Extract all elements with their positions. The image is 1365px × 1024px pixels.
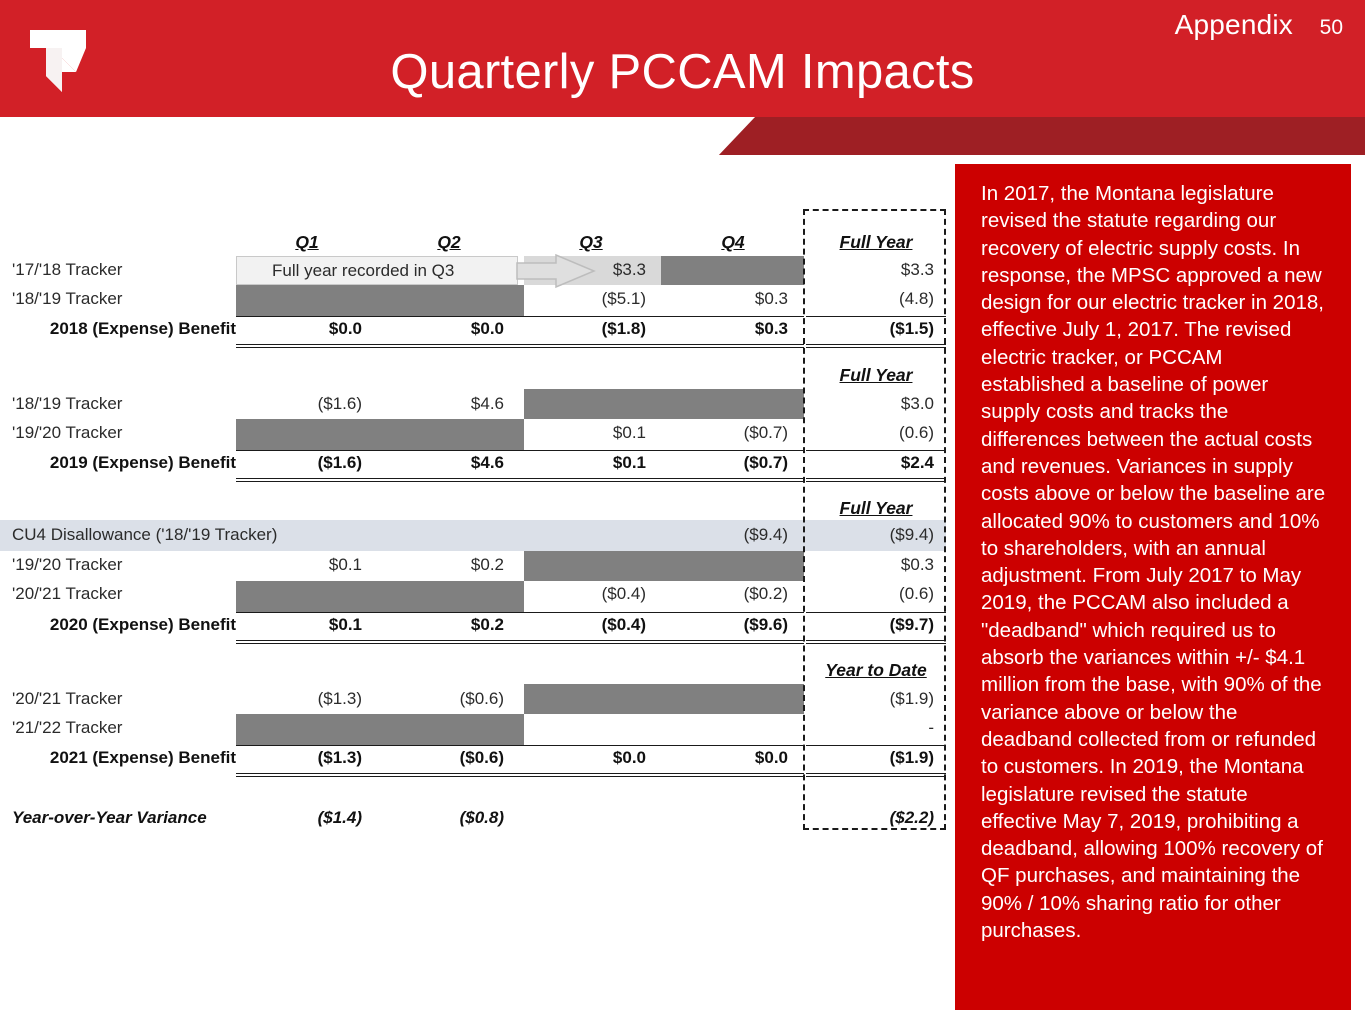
- row-label-s3r1: '19/'20 Tracker: [12, 555, 234, 575]
- callout-label: Full year recorded in Q3: [272, 261, 454, 281]
- cell-total2020-fy: ($9.7): [812, 615, 934, 635]
- row-label-s2r1: '18/'19 Tracker: [12, 394, 234, 414]
- cell-s4r1-fy: ($1.9): [812, 689, 934, 709]
- cell-s3r2-q4: ($0.2): [678, 584, 788, 604]
- cell-s4r1-q2: ($0.6): [394, 689, 504, 709]
- column-header-year-to-date: Year to Date: [806, 660, 946, 681]
- cell-s3r1-fy: $0.3: [812, 555, 934, 575]
- cell-s1r1-q3: $3.3: [536, 260, 646, 280]
- pccam-table: Q1 Q2 Q3 Q4 Full Year Full Year Full Yea…: [0, 160, 955, 900]
- cell-total2021-q1: ($1.3): [252, 748, 362, 768]
- double-rule-total-1: [236, 344, 804, 348]
- cell-total2018-fy: ($1.5): [812, 319, 934, 339]
- column-header-q3: Q3: [536, 232, 646, 253]
- gray-bar-s2r2-q1q2: [236, 419, 524, 450]
- rule-above-total-1: [236, 316, 804, 317]
- cell-s1r2-q4: $0.3: [678, 289, 788, 309]
- gray-bar-s2r1-q3q4: [524, 389, 804, 419]
- rule-above-total-1-fy: [806, 316, 946, 317]
- cell-total2021-q3: $0.0: [536, 748, 646, 768]
- double-rule-total-3-fy: [806, 640, 946, 644]
- cell-total2020-q3: ($0.4): [536, 615, 646, 635]
- rule-above-total-3: [236, 612, 804, 613]
- column-header-full-year-2: Full Year: [812, 365, 940, 386]
- row-label-total-2018: 2018 (Expense) Benefit: [0, 319, 236, 339]
- double-rule-total-1-fy: [806, 344, 946, 348]
- sidebar-body-text: In 2017, the Montana legislature revised…: [981, 180, 1329, 944]
- row-label-s1r1: '17/'18 Tracker: [12, 260, 234, 280]
- cell-s2r2-q3: $0.1: [536, 423, 646, 443]
- cell-cu4-q4: ($9.4): [678, 525, 788, 545]
- cell-s1r2-q3: ($5.1): [536, 289, 646, 309]
- cell-total2019-q4: ($0.7): [678, 453, 788, 473]
- cell-total2021-fy: ($1.9): [812, 748, 934, 768]
- cell-s1r2-fy: (4.8): [812, 289, 934, 309]
- page-title: Quarterly PCCAM Impacts: [0, 44, 1365, 100]
- rule-above-total-4: [236, 745, 804, 746]
- header-accent-edge: [0, 155, 1365, 158]
- cell-s3r2-fy: (0.6): [812, 584, 934, 604]
- gray-bar-s4r1-q3q4: [524, 684, 804, 714]
- double-rule-total-2-fy: [806, 478, 946, 482]
- page-number: 50: [1320, 16, 1343, 40]
- row-label-year-over-year-variance: Year-over-Year Variance: [12, 808, 262, 828]
- cell-total2018-q3: ($1.8): [536, 319, 646, 339]
- row-label-s3r2: '20/'21 Tracker: [12, 584, 234, 604]
- rule-above-total-2: [236, 450, 804, 451]
- cell-total2018-q4: $0.3: [678, 319, 788, 339]
- cell-s2r2-q4: ($0.7): [678, 423, 788, 443]
- row-label-total-2020: 2020 (Expense) Benefit: [0, 615, 236, 635]
- cell-s1r1-fy: $3.3: [812, 260, 934, 280]
- cell-variance-q2: ($0.8): [394, 808, 504, 828]
- cell-s3r1-q1: $0.1: [252, 555, 362, 575]
- column-header-q2: Q2: [394, 232, 504, 253]
- cell-s2r2-fy: (0.6): [812, 423, 934, 443]
- cell-s4r1-q1: ($1.3): [252, 689, 362, 709]
- cell-total2019-fy: $2.4: [812, 453, 934, 473]
- cell-variance-q1: ($1.4): [252, 808, 362, 828]
- gray-bar-s3r1-q3q4: [524, 551, 804, 581]
- cell-total2021-q2: ($0.6): [394, 748, 504, 768]
- gray-bar-s1r2-q1q2: [236, 285, 524, 316]
- double-rule-total-4: [236, 773, 804, 777]
- cell-cu4-fy: ($9.4): [812, 525, 934, 545]
- column-header-q4: Q4: [678, 232, 788, 253]
- column-header-full-year-3: Full Year: [812, 498, 940, 519]
- rule-above-total-3-fy: [806, 612, 946, 613]
- double-rule-total-2: [236, 478, 804, 482]
- column-header-q1: Q1: [252, 232, 362, 253]
- row-label-total-2019: 2019 (Expense) Benefit: [0, 453, 236, 473]
- gray-bar-s4r2-q1q2: [236, 714, 524, 745]
- cell-total2018-q2: $0.0: [394, 319, 504, 339]
- cell-total2018-q1: $0.0: [252, 319, 362, 339]
- cell-s4r2-fy: -: [812, 718, 934, 738]
- cell-s2r1-fy: $3.0: [812, 394, 934, 414]
- row-label-cu4-disallowance: CU4 Disallowance ('18/'19 Tracker): [12, 525, 432, 545]
- cell-s2r1-q2: $4.6: [394, 394, 504, 414]
- header-accent-trapezoid: [0, 117, 1365, 157]
- gray-bar-s1r1-q4: [661, 256, 804, 285]
- gray-bar-s3r2-q1q2: [236, 581, 524, 612]
- sidebar-panel: In 2017, the Montana legislature revised…: [955, 164, 1351, 1010]
- rule-above-total-2-fy: [806, 450, 946, 451]
- cell-total2020-q2: $0.2: [394, 615, 504, 635]
- cell-total2019-q2: $4.6: [394, 453, 504, 473]
- cell-s2r1-q1: ($1.6): [252, 394, 362, 414]
- cell-s3r1-q2: $0.2: [394, 555, 504, 575]
- cell-total2019-q1: ($1.6): [252, 453, 362, 473]
- row-label-s2r2: '19/'20 Tracker: [12, 423, 234, 443]
- column-header-full-year-1: Full Year: [812, 232, 940, 253]
- row-label-total-2021: 2021 (Expense) Benefit: [0, 748, 236, 768]
- cell-total2019-q3: $0.1: [536, 453, 646, 473]
- row-label-s1r2: '18/'19 Tracker: [12, 289, 234, 309]
- row-label-s4r1: '20/'21 Tracker: [12, 689, 234, 709]
- cell-total2020-q4: ($9.6): [678, 615, 788, 635]
- double-rule-total-3: [236, 640, 804, 644]
- row-label-s4r2: '21/'22 Tracker: [12, 718, 234, 738]
- double-rule-total-4-fy: [806, 773, 946, 777]
- cell-total2020-q1: $0.1: [252, 615, 362, 635]
- slide-root: Appendix 50 Quarterly PCCAM Impacts In 2…: [0, 0, 1365, 1024]
- cell-total2021-q4: $0.0: [678, 748, 788, 768]
- cell-variance-fy: ($2.2): [812, 808, 934, 828]
- rule-above-total-4-fy: [806, 745, 946, 746]
- cell-s3r2-q3: ($0.4): [536, 584, 646, 604]
- appendix-label: Appendix: [1175, 9, 1293, 41]
